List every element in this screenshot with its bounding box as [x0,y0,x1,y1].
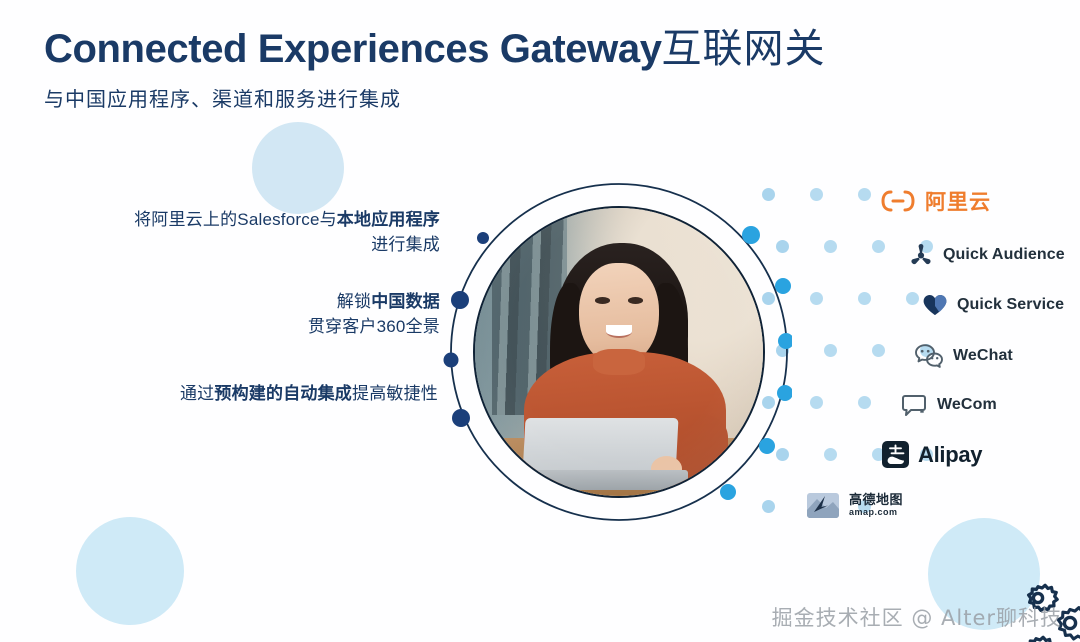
logo-label-quick-service: Quick Service [957,296,1064,314]
orbit-dot-right-3 [778,333,792,349]
wecom-icon [900,392,928,418]
logo-row-wecom[interactable]: WeCom [900,392,997,418]
logo-label-alibaba-cloud: 阿里云 [925,186,991,216]
orbit-dot-right-2 [775,278,791,294]
bullet-3-text-a: 通过 [180,384,214,403]
background-dot [824,344,837,357]
bullet-3-text-bold: 预构建的自动集成 [214,384,352,403]
bullet-1-text-b: 进行集成 [371,235,440,254]
bullet-item-china-data: 解锁中国数据 贯穿客户360全景 [150,290,440,339]
amap-icon [806,490,840,520]
logo-sublabel-amap: amap.com [849,508,903,517]
page-subtitle: 与中国应用程序、渠道和服务进行集成 [44,83,1004,112]
watermark: 掘金技术社区 @ Alter聊科技 [772,602,1062,632]
background-dot [824,240,837,253]
bullet-item-agility: 通过预构建的自动集成提高敏捷性 [70,382,438,407]
background-dot [906,292,919,305]
background-dot [858,292,871,305]
quick-audience-icon [908,242,934,268]
background-dot [824,448,837,461]
logo-row-alipay[interactable]: Alipay [882,441,982,468]
bullet-2-text-a: 解锁 [337,292,371,311]
background-dot [810,292,823,305]
page-title-cn: 互联网关 [662,27,826,71]
bullet-2-text-b: 贯穿客户360全景 [308,317,440,336]
header: Connected Experiences Gateway互联网关 与中国应用程… [44,26,1004,112]
alipay-icon [882,441,909,468]
logo-row-quick-audience[interactable]: Quick Audience [908,242,1065,268]
orbit-dot-left-1 [451,291,469,309]
bullet-1-text-bold: 本地应用程序 [337,210,440,229]
decorative-circle-bottom-left [76,517,184,625]
background-dot [872,344,885,357]
logo-label-quick-audience: Quick Audience [943,246,1065,264]
background-dot [872,240,885,253]
logo-row-alibaba-cloud[interactable]: 阿里云 [880,186,991,216]
logo-label-alipay: Alipay [918,442,982,468]
bullet-item-integration: 将阿里云上的Salesforce与本地应用程序 进行集成 [40,208,440,257]
bullet-3-text-b: 提高敏捷性 [352,384,438,403]
hero-photo [473,206,765,498]
decorative-circle-top-left [252,122,344,214]
bullet-2-text-bold: 中国数据 [371,292,440,311]
quick-service-heart-icon [922,293,948,317]
alibaba-cloud-icon [880,189,916,213]
background-dot [810,188,823,201]
background-dot [858,396,871,409]
page-title-en: Connected Experiences Gateway [44,27,662,71]
logo-label-wechat: WeChat [953,347,1013,365]
bullet-1-text-a: 将阿里云上的Salesforce与 [134,210,337,229]
logo-row-quick-service[interactable]: Quick Service [922,293,1064,317]
background-dot [810,396,823,409]
hero-graphic [440,128,792,550]
orbit-dot-right-4 [777,385,792,401]
wechat-icon [914,343,944,369]
amap-wordmark: 高德地图 amap.com [849,493,903,517]
slide-canvas: Connected Experiences Gateway互联网关 与中国应用程… [0,0,1080,642]
logo-label-amap: 高德地图 [849,493,903,506]
background-dot [858,188,871,201]
logo-row-wechat[interactable]: WeChat [914,343,1013,369]
logo-row-amap[interactable]: 高德地图 amap.com [806,490,903,520]
logo-label-wecom: WeCom [937,396,997,414]
orbit-dot-left-3 [452,409,470,427]
orbit-dot-left-2 [444,353,459,368]
page-title: Connected Experiences Gateway互联网关 [44,26,1004,72]
